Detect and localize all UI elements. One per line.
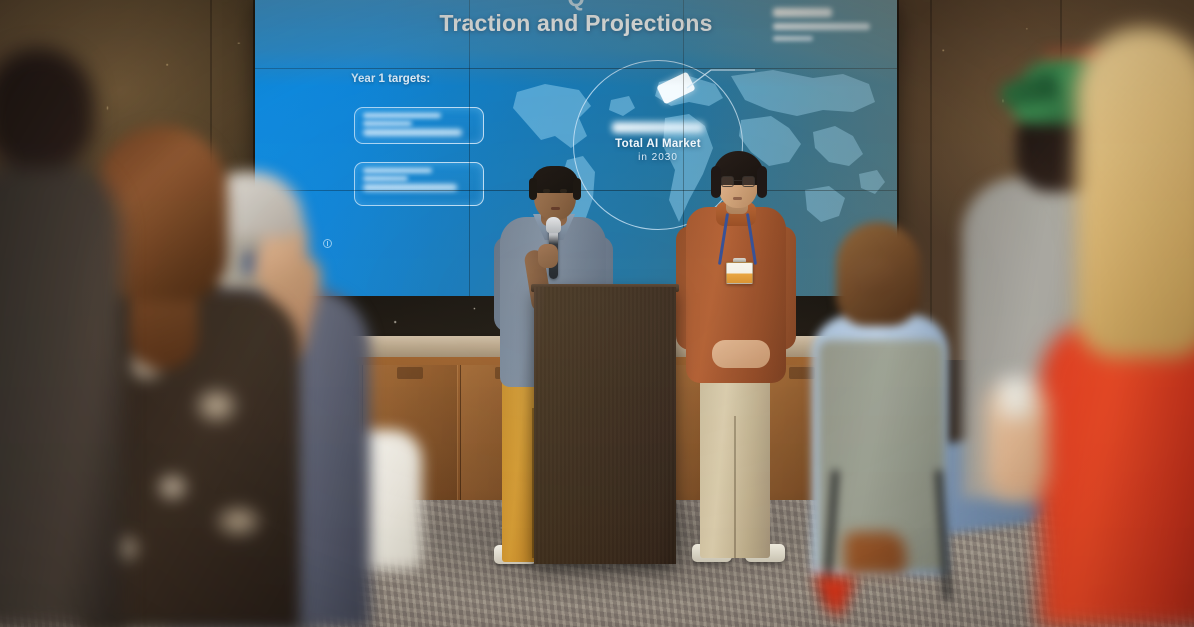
presenter-right-hair-side xyxy=(711,166,721,198)
audience-head xyxy=(0,48,94,168)
video-wall-seam-v xyxy=(469,0,470,296)
eyeglasses-icon xyxy=(721,176,755,187)
target-box-1-line-2-blurred xyxy=(363,121,412,126)
target-box-1-line-3-blurred xyxy=(363,129,462,136)
presenter-left-hair xyxy=(531,166,579,193)
slide-title: Traction and Projections xyxy=(255,10,897,37)
target-box-1 xyxy=(354,107,484,144)
audience-hair-bun xyxy=(852,258,896,298)
presenter-right-trousers xyxy=(700,376,770,558)
name-badge xyxy=(726,262,753,284)
target-box-2-line-1-blurred xyxy=(363,168,432,173)
eyeglass-bridge xyxy=(734,180,742,181)
podium xyxy=(534,287,676,564)
donut-callout-line xyxy=(685,62,757,92)
presenter-right-clasped-hands xyxy=(712,340,770,368)
presenter-left-eye xyxy=(560,189,567,193)
year-targets-heading: Year 1 targets: xyxy=(351,73,430,85)
microphone-head-icon xyxy=(546,217,561,233)
presenter-left-eye xyxy=(543,189,550,193)
donut-center-group: Total AI Market in 2030 xyxy=(573,122,743,163)
eyeglass-lens xyxy=(721,176,734,187)
trouser-seam xyxy=(734,416,736,558)
presenter-left-hand xyxy=(538,244,558,268)
podium-texture xyxy=(534,287,676,564)
target-box-2-line-2-blurred xyxy=(363,176,408,181)
presenter-left-hair-side xyxy=(529,178,537,200)
presenter-left-hair-side xyxy=(573,178,581,200)
presenter-left-mouth xyxy=(551,207,560,210)
eyeglass-lens xyxy=(742,176,755,187)
donut-center-value-blurred xyxy=(612,122,704,133)
audience-hand xyxy=(254,246,296,290)
target-box-1-line-1-blurred xyxy=(363,113,441,118)
audience-blonde-hair xyxy=(1076,28,1194,358)
screenshot-root: Total AI Market in 2030 Year 1 targets: … xyxy=(0,0,1194,627)
presenter-right-hair-side xyxy=(757,166,767,198)
donut-center-label: Total AI Market xyxy=(573,138,743,150)
target-box-2 xyxy=(354,162,484,206)
video-wall-seam-h xyxy=(255,68,897,69)
cabinet-pull-icon xyxy=(397,367,423,379)
audience-boot xyxy=(844,532,906,574)
wall-panel-seam xyxy=(930,0,932,360)
presenter-right-mouth xyxy=(733,197,742,200)
audience-torso xyxy=(0,160,122,627)
audience-cup xyxy=(1000,378,1034,418)
audience-orange-top xyxy=(1040,320,1194,627)
slide-hud-marker-icon xyxy=(323,239,332,248)
